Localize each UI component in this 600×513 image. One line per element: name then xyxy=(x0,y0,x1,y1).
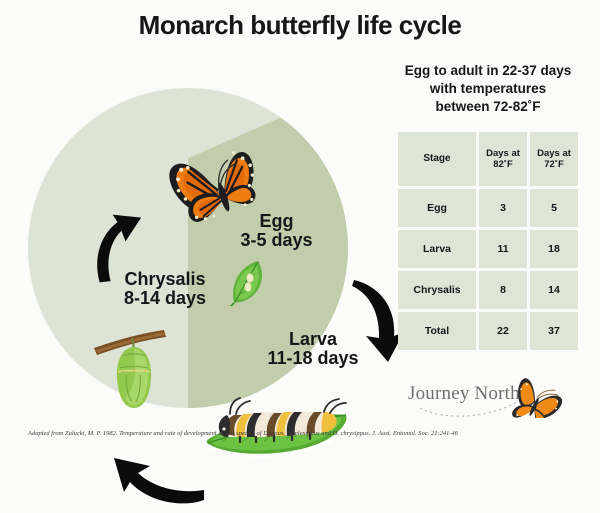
table-header-days-82-line2: 82˚F xyxy=(479,159,527,171)
chrysalis-icon xyxy=(90,320,200,425)
table-row: Egg 3 5 xyxy=(398,189,578,227)
table-cell-stage: Chrysalis xyxy=(398,271,476,309)
table-header-days-82: Days at 82˚F xyxy=(479,132,527,186)
table-row: Total 22 37 xyxy=(398,312,578,350)
table-row: Larva 11 18 xyxy=(398,230,578,268)
table-cell-stage: Total xyxy=(398,312,476,350)
page-title: Monarch butterfly life cycle xyxy=(0,10,600,41)
table-header-stage: Stage xyxy=(398,132,476,186)
table-header-days-82-line1: Days at xyxy=(479,148,527,160)
stage-duration-egg: 3-5 days xyxy=(224,231,329,250)
source-citation: Adapted from Zalucki, M. P. 1982. Temper… xyxy=(28,430,573,437)
table-cell-days-82: 8 xyxy=(479,271,527,309)
infographic-page: Monarch butterfly life cycle xyxy=(0,0,600,450)
journey-north-logo[interactable]: Journey North xyxy=(406,372,591,418)
stage-duration-chrysalis: 8-14 days xyxy=(100,289,230,308)
summary-panel: Egg to adult in 22-37 days with temperat… xyxy=(388,62,588,353)
journey-north-logo-text: Journey North xyxy=(408,383,520,405)
table-header-days-72-line2: 72˚F xyxy=(530,159,578,171)
table-cell-days-82: 22 xyxy=(479,312,527,350)
table-row: Chrysalis 8 14 xyxy=(398,271,578,309)
stage-name-egg: Egg xyxy=(224,212,329,231)
arrow-chrysalis-to-adult-icon xyxy=(90,206,154,289)
table-header-days-72-line1: Days at xyxy=(530,148,578,160)
development-time-table: Stage Days at 82˚F Days at 72˚F Egg 3 5 … xyxy=(395,129,581,353)
arrow-larva-to-chrysalis-icon xyxy=(100,446,210,513)
table-cell-days-72: 18 xyxy=(530,230,578,268)
stage-label-egg: Egg 3-5 days xyxy=(224,212,329,251)
table-header-days-72: Days at 72˚F xyxy=(530,132,578,186)
table-header-row: Stage Days at 82˚F Days at 72˚F xyxy=(398,132,578,186)
summary-heading-line2: with temperatures xyxy=(388,80,588,98)
leaf-with-eggs-icon xyxy=(224,256,280,311)
table-cell-days-72: 14 xyxy=(530,271,578,309)
table-cell-days-72: 5 xyxy=(530,189,578,227)
summary-heading-line3: between 72-82˚F xyxy=(388,98,588,116)
table-cell-days-82: 11 xyxy=(479,230,527,268)
summary-heading-line1: Egg to adult in 22-37 days xyxy=(388,62,588,80)
table-cell-days-72: 37 xyxy=(530,312,578,350)
summary-heading: Egg to adult in 22-37 days with temperat… xyxy=(388,62,588,115)
table-cell-stage: Larva xyxy=(398,230,476,268)
table-cell-days-82: 3 xyxy=(479,189,527,227)
life-cycle-diagram: Egg 3-5 days Chrysalis 8-14 days xyxy=(28,88,348,408)
table-cell-stage: Egg xyxy=(398,189,476,227)
